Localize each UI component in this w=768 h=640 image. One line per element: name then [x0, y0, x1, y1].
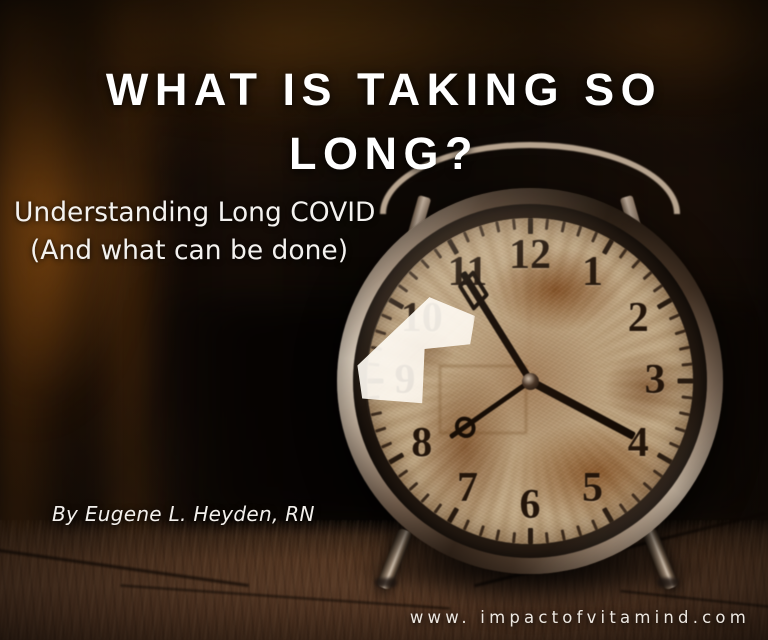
page-title: WHAT IS TAKING SO LONG? [0, 58, 768, 186]
subtitle: Understanding Long COVID (And what can b… [14, 194, 386, 269]
dial-tick-minor [652, 284, 663, 293]
dial-tick-minor [375, 427, 386, 433]
clock-dial: 121234567891011 [367, 218, 693, 544]
dial-tick-minor [642, 271, 652, 281]
dial-tick-minor [420, 493, 430, 503]
dial-tick-minor [478, 226, 484, 237]
dial-tick-minor [380, 313, 391, 320]
dial-tick-minor [370, 411, 381, 416]
dial-numeral: 1 [567, 251, 619, 293]
dial-tick-minor [681, 362, 692, 366]
dial-numeral: 6 [504, 484, 556, 526]
dial-tick-major [601, 507, 613, 523]
poster-canvas: 121234567891011 WHAT IS TAKING SO LONG? … [0, 0, 768, 640]
dial-tick-major [528, 528, 533, 544]
dial-tick-minor [544, 219, 548, 230]
dial-numeral: 7 [442, 467, 494, 509]
dial-tick-minor [408, 271, 418, 281]
website-url[interactable]: www. impactofvitamind.com [410, 608, 750, 627]
dial-tick-minor [674, 329, 685, 335]
dial-tick-minor [618, 503, 627, 514]
dial-numeral: 3 [629, 359, 681, 401]
dial-tick-minor [368, 395, 379, 399]
dial-tick-minor [544, 532, 548, 543]
dial-tick-minor [590, 231, 597, 242]
dial-tick-minor [678, 411, 689, 416]
dial-tick-minor [560, 221, 565, 232]
dial-tick-minor [420, 259, 430, 269]
dial-tick-minor [380, 441, 391, 448]
dial-numeral: 8 [396, 422, 448, 464]
dial-tick-minor [674, 427, 685, 433]
dial-numeral: 2 [612, 297, 664, 339]
dial-tick-minor [462, 519, 469, 530]
dial-tick-minor [631, 493, 641, 503]
dial-tick-minor [590, 519, 597, 530]
dial-tick-minor [678, 346, 689, 351]
dial-tick-minor [668, 313, 679, 320]
dial-tick-minor [370, 346, 381, 351]
alarm-clock-icon: 121234567891011 [335, 140, 725, 580]
dial-tick-minor [462, 231, 469, 242]
subtitle-line-1: Understanding Long COVID [14, 194, 386, 232]
clock-center-hub [522, 373, 539, 390]
dial-tick-minor [668, 441, 679, 448]
dial-tick-minor [576, 226, 582, 237]
dial-tick-minor [375, 329, 386, 335]
dial-tick-minor [397, 284, 408, 293]
dial-tick-minor [397, 469, 408, 478]
dial-tick-minor [511, 532, 515, 543]
dial-tick-minor [618, 248, 627, 259]
dial-tick-minor [560, 529, 565, 540]
dial-tick-minor [631, 259, 641, 269]
dial-tick-minor [576, 525, 582, 536]
author-byline: By Eugene L. Heyden, RN [52, 502, 315, 526]
subtitle-line-2: (And what can be done) [14, 232, 386, 270]
dial-tick-minor [511, 219, 515, 230]
clock-foot [375, 578, 397, 587]
dial-tick-minor [368, 362, 379, 366]
dial-tick-minor [652, 469, 663, 478]
clock-metal-case: 121234567891011 [337, 188, 723, 574]
dial-tick-minor [495, 221, 500, 232]
dial-tick-minor [478, 525, 484, 536]
clock-foot [657, 578, 679, 587]
dial-numeral: 10 [396, 297, 448, 339]
dial-numeral: 5 [567, 467, 619, 509]
dial-numeral: 9 [379, 359, 431, 401]
dial-tick-minor [495, 529, 500, 540]
dial-numeral: 12 [504, 234, 556, 276]
dial-tick-minor [681, 395, 692, 399]
dial-tick-minor [408, 482, 418, 492]
dial-tick-minor [642, 482, 652, 492]
